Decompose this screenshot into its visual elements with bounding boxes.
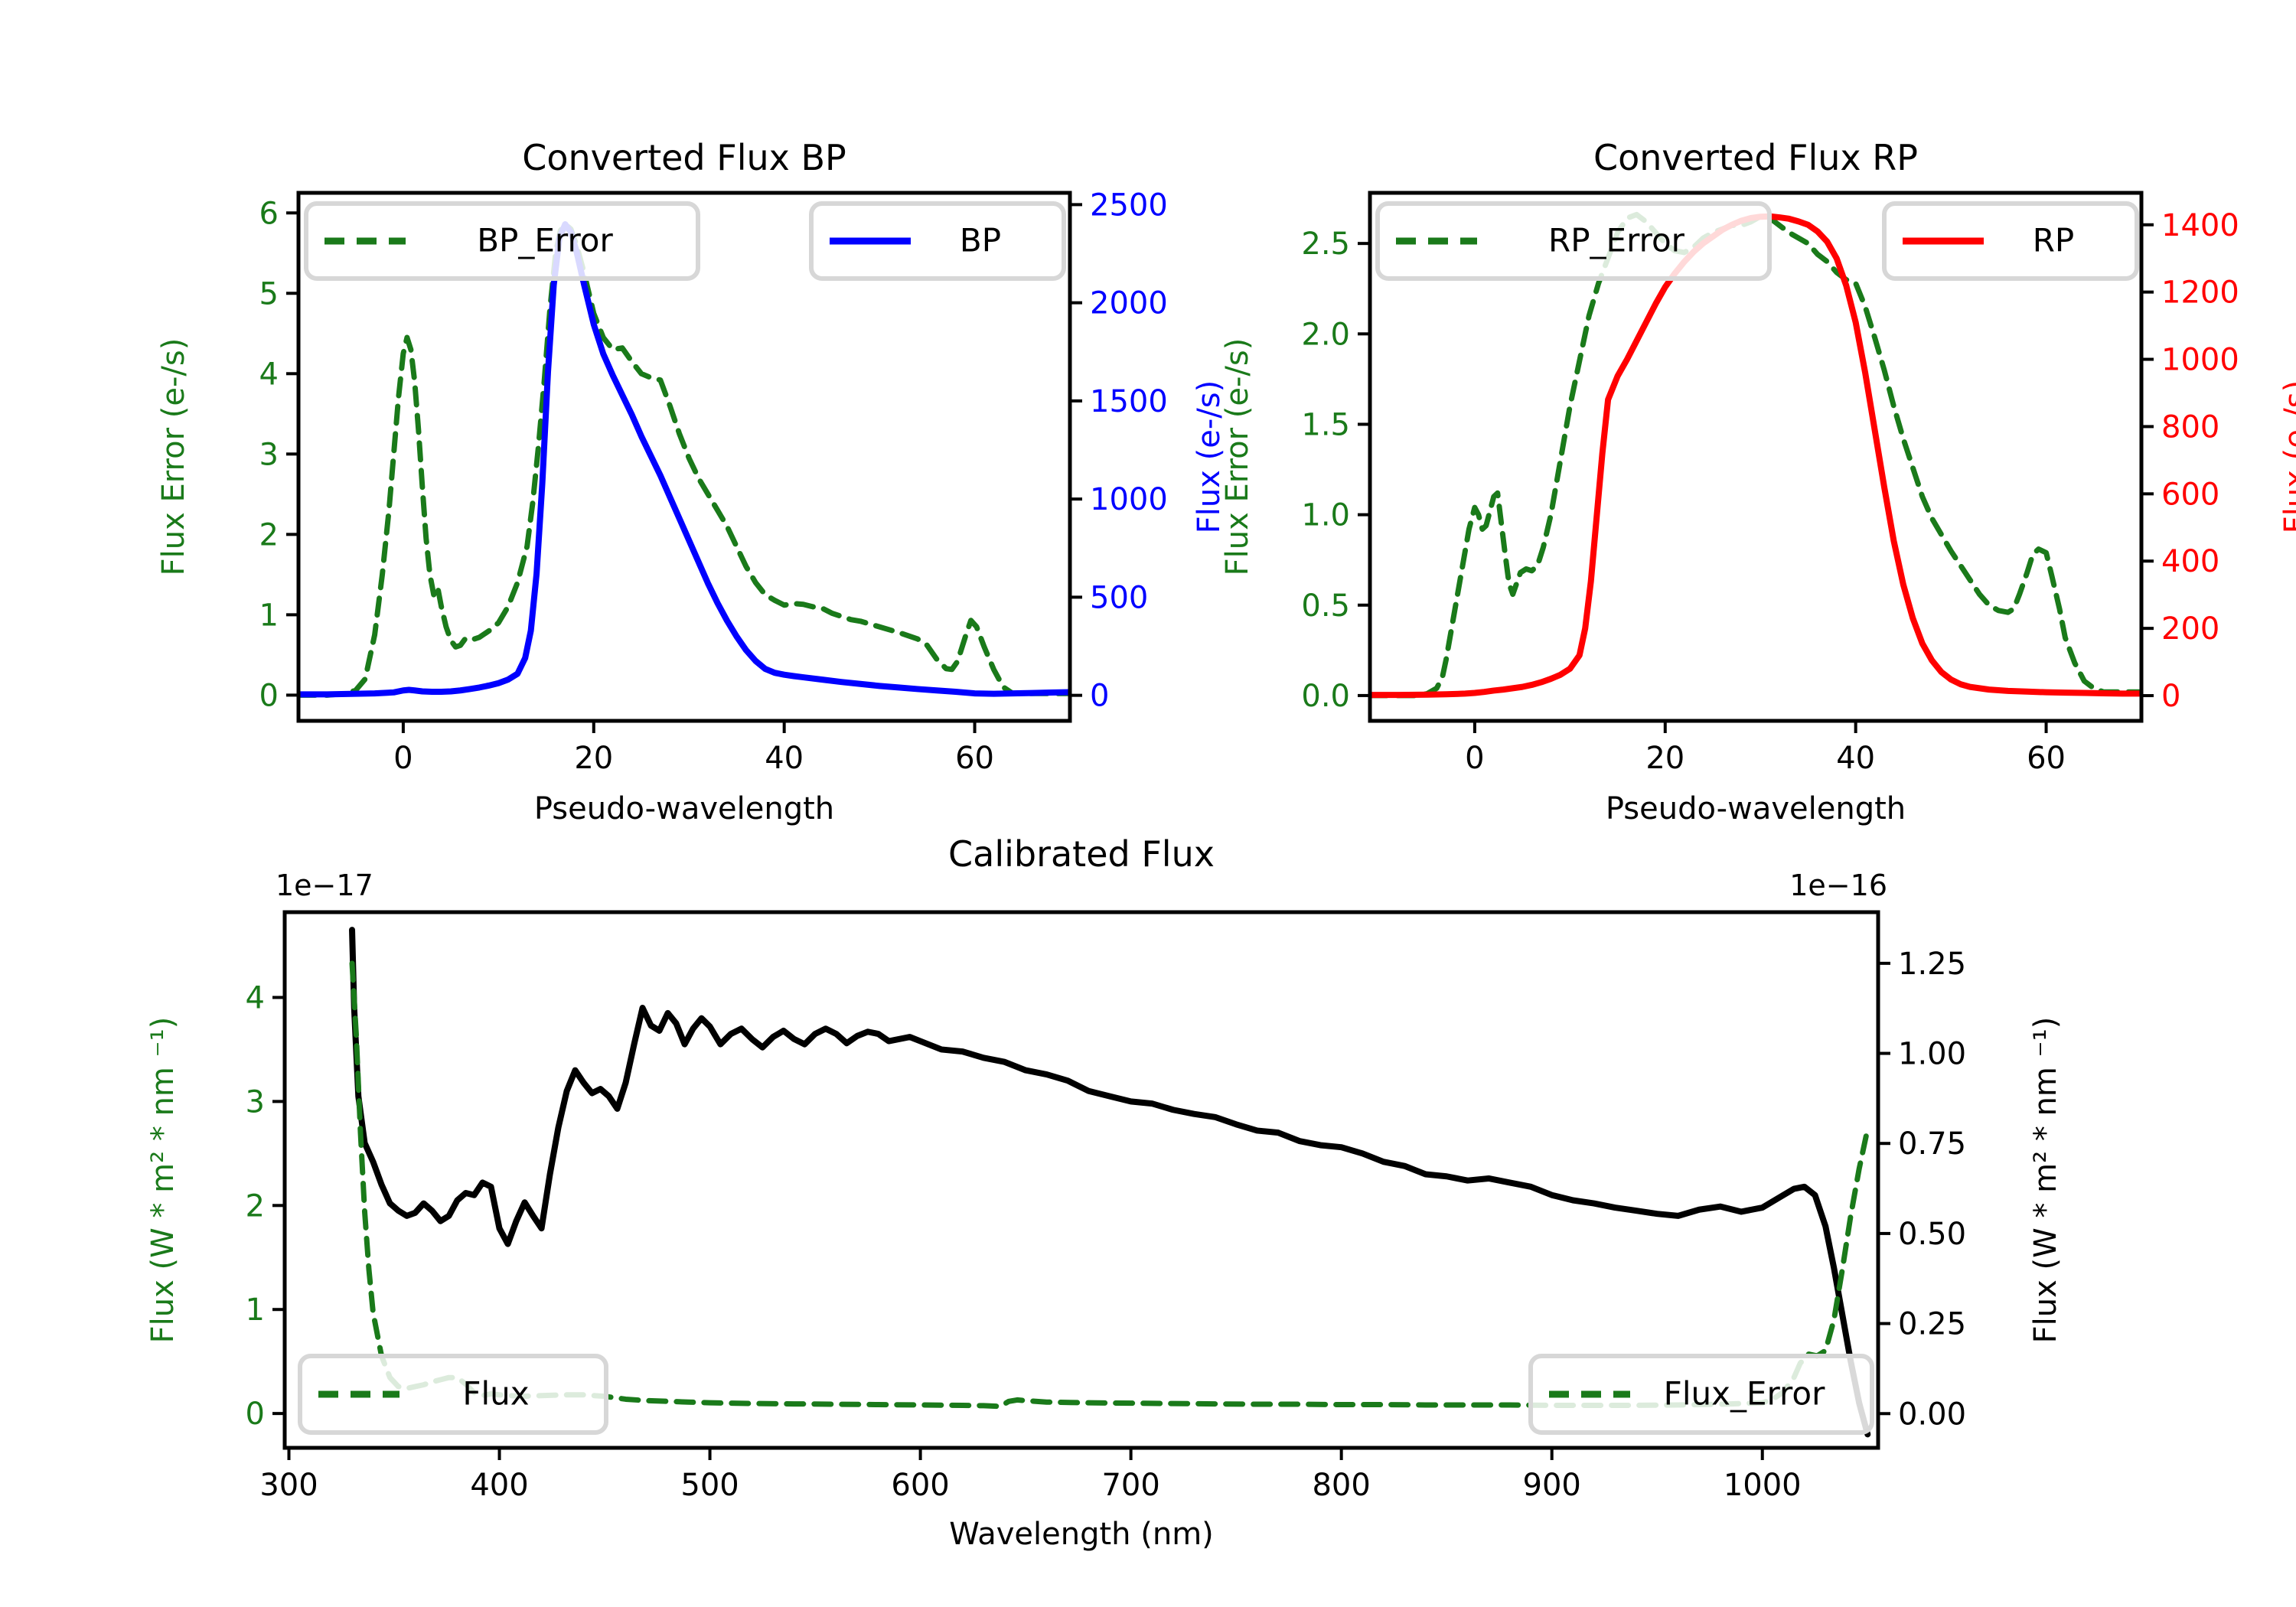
ytick-label-right: 2000 <box>1090 286 1168 321</box>
legend-cal-error-box[interactable] <box>300 1356 606 1433</box>
ytick-label-right: 1000 <box>2161 343 2239 378</box>
ytick-label-right: 1500 <box>1090 384 1168 419</box>
ytick-label-right: 1.25 <box>1898 947 1966 982</box>
ytick-label-right: 1000 <box>1090 482 1168 517</box>
ytick-label-right: 1.00 <box>1898 1037 1966 1072</box>
legend-cal-flux[interactable]: Flux_Error <box>1531 1356 1872 1433</box>
xtick-label: 1000 <box>1724 1468 1802 1503</box>
ytick-label-left: 5 <box>259 276 279 311</box>
x-axis-label-cal: Wavelength (nm) <box>949 1517 1214 1552</box>
xtick-label: 0 <box>1465 741 1484 776</box>
xtick-label: 40 <box>765 741 804 776</box>
legend-bp-flux[interactable]: BP <box>811 204 1064 279</box>
xtick-label: 700 <box>1101 1468 1159 1503</box>
series-bp-error <box>298 224 1070 695</box>
ytick-label-right: 800 <box>2161 409 2219 445</box>
ytick-label-right: 400 <box>2161 544 2219 579</box>
ytick-label-right: 2500 <box>1090 187 1168 223</box>
y-axis-label-left-rp: Flux Error (e-/s) <box>1220 338 1255 576</box>
series-rp <box>1370 217 2141 695</box>
ytick-label-left: 0 <box>259 678 279 713</box>
ytick-label-left: 4 <box>246 980 265 1015</box>
left-axis-offset-text: 1e−17 <box>276 869 373 902</box>
legend-bp-error[interactable]: BP_Error <box>306 204 698 279</box>
ytick-label-left: 1.0 <box>1301 498 1350 533</box>
x-axis-label-rp: Pseudo-wavelength <box>1606 791 1906 826</box>
y-axis-label-left-cal: Flux (W * m² * nm ⁻¹) <box>145 1017 181 1344</box>
panel-cal: Calibrated Flux1e−171e−16300400500600700… <box>145 833 2063 1552</box>
ytick-label-right: 1400 <box>2161 208 2239 243</box>
ytick-label-left: 1.5 <box>1301 407 1350 442</box>
ytick-label-right: 0.00 <box>1898 1397 1966 1432</box>
ytick-label-left: 2.0 <box>1301 317 1350 352</box>
xtick-label: 20 <box>1645 741 1684 776</box>
xtick-label: 400 <box>470 1468 528 1503</box>
legend-rp-flux-label: RP <box>2033 222 2075 259</box>
ytick-label-left: 2.5 <box>1301 227 1350 262</box>
series-bp <box>298 224 1070 694</box>
legend-rp-flux[interactable]: RP <box>1884 204 2137 279</box>
panel-title-bp: Converted Flux BP <box>522 137 846 178</box>
ytick-label-right: 0.25 <box>1898 1307 1966 1342</box>
legend-bp-flux-label: BP <box>960 222 1001 259</box>
ytick-label-left: 6 <box>259 196 279 231</box>
xtick-label: 900 <box>1523 1468 1581 1503</box>
legend-rp-error-label: RP_Error <box>1548 222 1685 259</box>
ytick-label-right: 0.75 <box>1898 1126 1966 1162</box>
xtick-label: 60 <box>2027 741 2066 776</box>
ytick-label-left: 0.0 <box>1301 679 1350 714</box>
xtick-label: 0 <box>393 741 413 776</box>
y-axis-label-left-bp: Flux Error (e-/s) <box>156 338 191 576</box>
ytick-label-left: 1 <box>259 598 279 633</box>
series-rp-error <box>1370 214 2141 696</box>
x-axis-label-bp: Pseudo-wavelength <box>534 791 834 826</box>
ytick-label-right: 600 <box>2161 477 2219 512</box>
ytick-label-left: 2 <box>259 517 279 553</box>
xtick-label: 600 <box>891 1468 949 1503</box>
series-flux-error <box>352 963 1867 1407</box>
xtick-label: 300 <box>259 1468 318 1503</box>
xtick-label: 800 <box>1312 1468 1370 1503</box>
xtick-label: 40 <box>1836 741 1875 776</box>
figure-canvas: Converted Flux BP0204060Pseudo-wavelengt… <box>0 0 2296 1607</box>
ytick-label-right: 0 <box>2161 679 2180 714</box>
ytick-label-left: 1 <box>246 1292 265 1328</box>
legend-cal-error[interactable]: Flux <box>300 1356 606 1433</box>
y-axis-label-right-cal: Flux (W * m² * nm ⁻¹) <box>2028 1017 2063 1344</box>
multi-panel-spectrum-figure: Converted Flux BP0204060Pseudo-wavelengt… <box>0 0 2296 1607</box>
ytick-label-left: 4 <box>259 357 279 392</box>
ytick-label-right: 1200 <box>2161 275 2239 311</box>
legend-bp-error-label: BP_Error <box>477 222 613 259</box>
panel-title-rp: Converted Flux RP <box>1593 137 1918 178</box>
panel-rp: Converted Flux RP0204060Pseudo-wavelengt… <box>1220 137 2296 826</box>
ytick-label-left: 2 <box>246 1188 265 1224</box>
ytick-label-left: 3 <box>246 1084 265 1120</box>
panel-bp: Converted Flux BP0204060Pseudo-wavelengt… <box>156 137 1227 826</box>
legend-cal-flux-label: Flux_Error <box>1664 1375 1825 1413</box>
legend-rp-error[interactable]: RP_Error <box>1378 204 1769 279</box>
legend-cal-error-label: Flux <box>462 1375 529 1413</box>
xtick-label: 20 <box>574 741 613 776</box>
right-axis-offset-text: 1e−16 <box>1789 869 1887 902</box>
panel-title-cal: Calibrated Flux <box>948 833 1215 875</box>
ytick-label-left: 0.5 <box>1301 588 1350 624</box>
xtick-label: 60 <box>955 741 994 776</box>
xtick-label: 500 <box>680 1468 739 1503</box>
ytick-label-left: 0 <box>246 1397 265 1432</box>
y-axis-label-right-rp: Flux (e-/s) <box>2278 380 2296 533</box>
ytick-label-right: 200 <box>2161 611 2219 647</box>
ytick-label-right: 500 <box>1090 580 1148 615</box>
ytick-label-right: 0.50 <box>1898 1217 1966 1252</box>
ytick-label-right: 0 <box>1090 679 1109 714</box>
ytick-label-left: 3 <box>259 437 279 472</box>
